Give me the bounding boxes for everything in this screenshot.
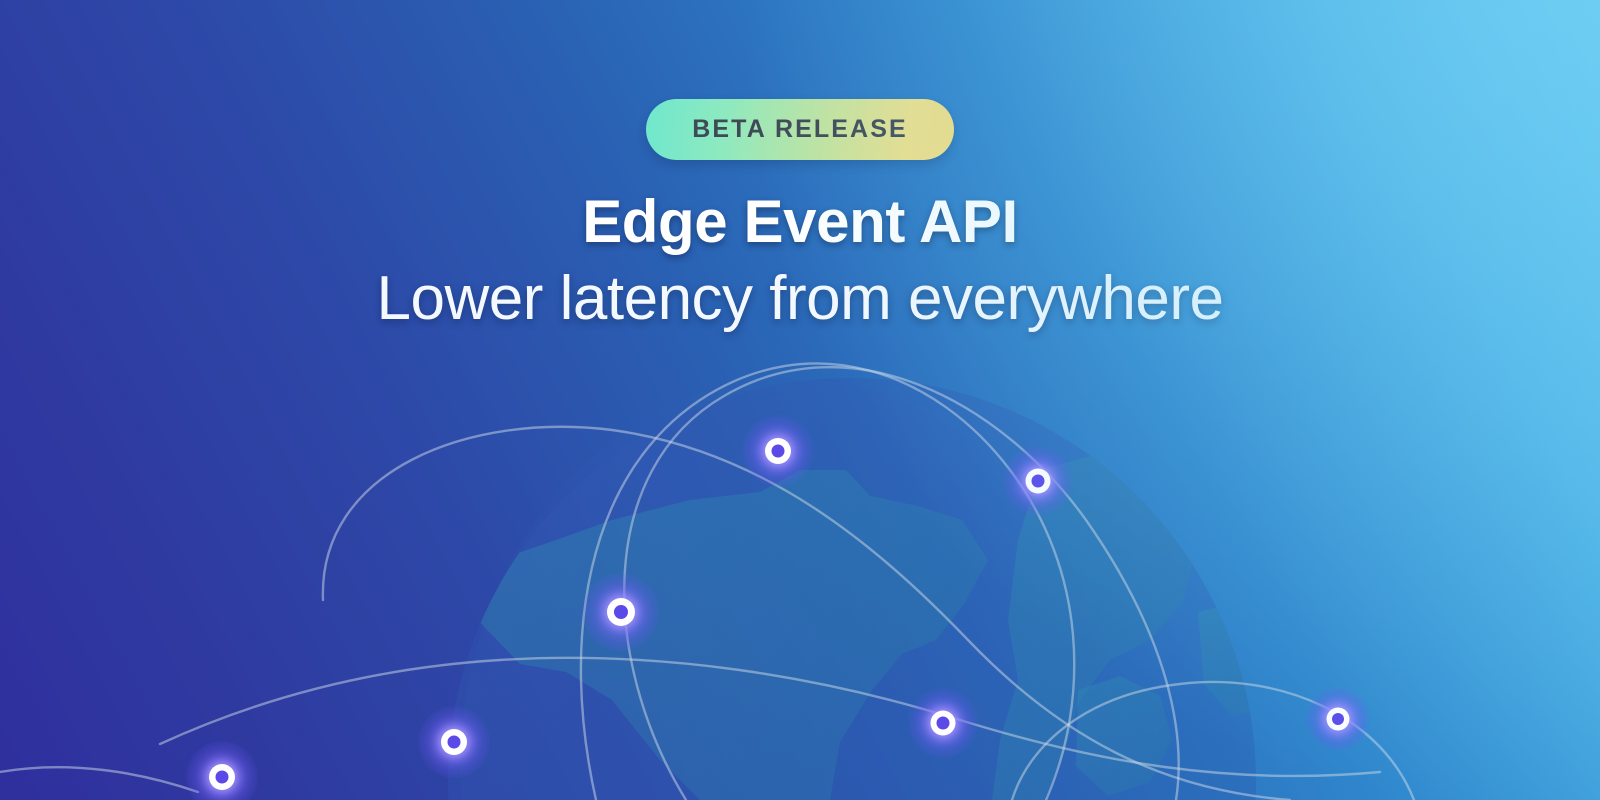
hero-content: BETA RELEASE Edge Event API Lower latenc…: [0, 0, 1600, 800]
badge-label: BETA RELEASE: [692, 115, 908, 144]
page-title: Edge Event API: [582, 187, 1018, 256]
beta-release-badge: BETA RELEASE: [646, 99, 954, 160]
hero-banner: BETA RELEASE Edge Event API Lower latenc…: [0, 0, 1600, 800]
page-subtitle: Lower latency from everywhere: [377, 263, 1224, 334]
